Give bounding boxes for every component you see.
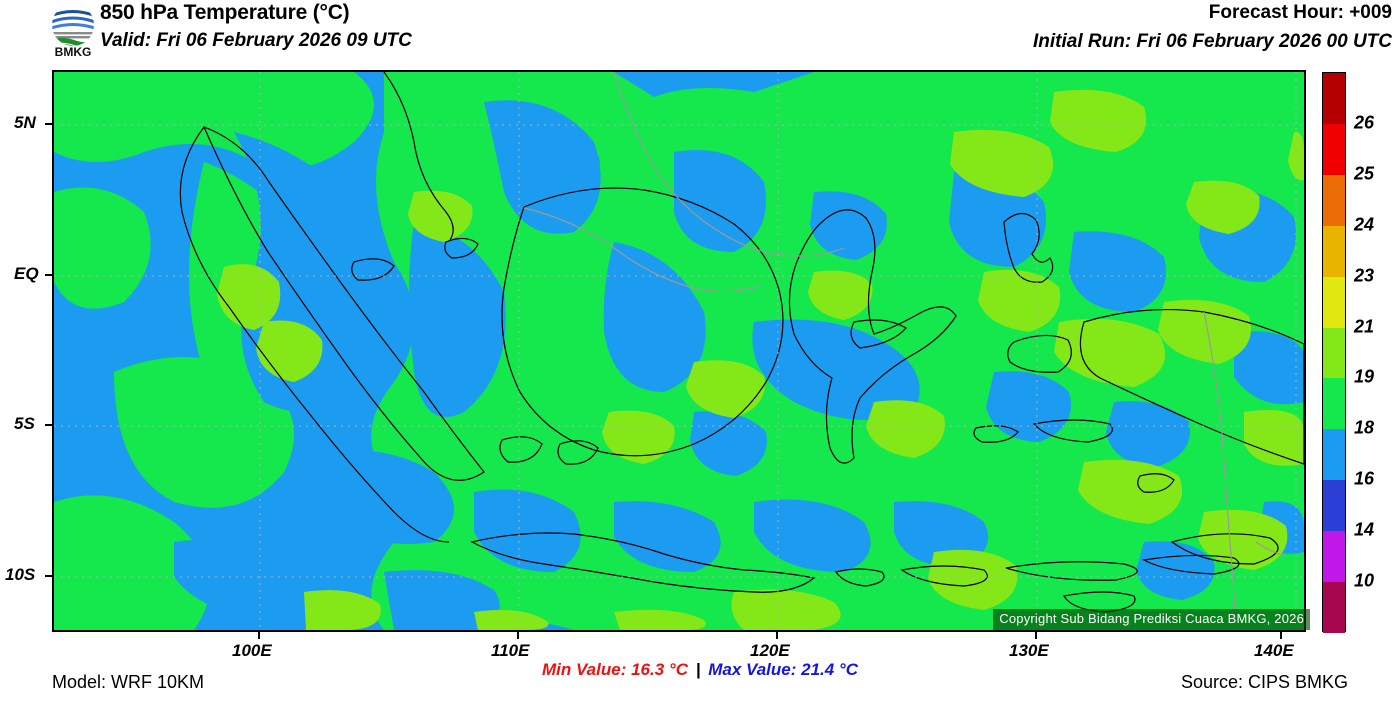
bmkg-logo: BMKG bbox=[44, 2, 102, 58]
colorbar-label-23: 23 bbox=[1354, 265, 1374, 286]
y-label-eq: EQ bbox=[14, 264, 39, 284]
min-value-label: Min Value: 16.3 °C bbox=[542, 660, 688, 679]
colorbar-band-6-10 bbox=[1323, 582, 1345, 633]
colorbar-label-14: 14 bbox=[1354, 520, 1374, 541]
x-tick-130e bbox=[1035, 632, 1037, 639]
colorbar-label-26: 26 bbox=[1354, 112, 1374, 133]
colorbar-band-23-24 bbox=[1323, 226, 1345, 277]
colorbar-band-26-30 bbox=[1323, 73, 1345, 124]
x-label-110e: 110E bbox=[491, 641, 529, 661]
max-value-label: Max Value: 21.4 °C bbox=[708, 660, 858, 679]
colorbar-band-18-19 bbox=[1323, 378, 1345, 429]
y-label-5n: 5N bbox=[14, 113, 36, 133]
x-label-130e: 130E bbox=[1009, 641, 1049, 661]
temperature-field bbox=[54, 72, 1304, 630]
x-label-120e: 120E bbox=[750, 641, 790, 661]
y-tick-eq bbox=[45, 274, 52, 276]
colorbar-band-14-16 bbox=[1323, 480, 1345, 531]
colorbar-label-19: 19 bbox=[1354, 367, 1374, 388]
colorbar-band-21-23 bbox=[1323, 277, 1345, 328]
logo-text: BMKG bbox=[55, 45, 92, 58]
y-tick-5n bbox=[45, 123, 52, 125]
colorbar-label-21: 21 bbox=[1354, 316, 1374, 337]
colorbar-band-24-25 bbox=[1323, 175, 1345, 226]
page-title: 850 hPa Temperature (°C) bbox=[100, 1, 349, 25]
colorbar-label-18: 18 bbox=[1354, 418, 1374, 439]
x-tick-110e bbox=[517, 632, 519, 639]
copyright-watermark: Copyright Sub Bidang Prediksi Cuaca BMKG… bbox=[993, 609, 1310, 630]
header-bar: BMKG 850 hPa Temperature (°C) Valid: Fri… bbox=[0, 0, 1400, 62]
x-label-140e: 140E bbox=[1254, 641, 1294, 661]
forecast-hour-label: Forecast Hour: +009 bbox=[1209, 2, 1392, 24]
colorbar-label-10: 10 bbox=[1354, 571, 1374, 592]
y-label-10s: 10S bbox=[5, 565, 35, 585]
initial-run-label: Initial Run: Fri 06 February 2026 00 UTC bbox=[1033, 31, 1392, 53]
colorbar-label-24: 24 bbox=[1354, 214, 1374, 235]
colorbar-band-25-26 bbox=[1323, 124, 1345, 175]
x-label-100e: 100E bbox=[232, 641, 272, 661]
min-max-readout: Min Value: 16.3 °C | Max Value: 21.4 °C bbox=[0, 660, 1400, 680]
forecast-map[interactable]: Copyright Sub Bidang Prediksi Cuaca BMKG… bbox=[52, 70, 1306, 632]
y-label-5s: 5S bbox=[14, 414, 35, 434]
y-tick-5s bbox=[45, 424, 52, 426]
x-tick-100e bbox=[258, 632, 260, 639]
colorbar-band-16-18 bbox=[1323, 429, 1345, 480]
x-tick-120e bbox=[776, 632, 778, 639]
colorbar-label-25: 25 bbox=[1354, 163, 1374, 184]
valid-time-label: Valid: Fri 06 February 2026 09 UTC bbox=[100, 30, 412, 52]
x-tick-140e bbox=[1280, 632, 1282, 639]
minmax-separator: | bbox=[693, 660, 704, 679]
colorbar-band-10-14 bbox=[1323, 531, 1345, 582]
y-tick-10s bbox=[45, 575, 52, 577]
colorbar[interactable] bbox=[1322, 72, 1346, 632]
colorbar-band-19-21 bbox=[1323, 328, 1345, 379]
colorbar-label-16: 16 bbox=[1354, 469, 1374, 490]
